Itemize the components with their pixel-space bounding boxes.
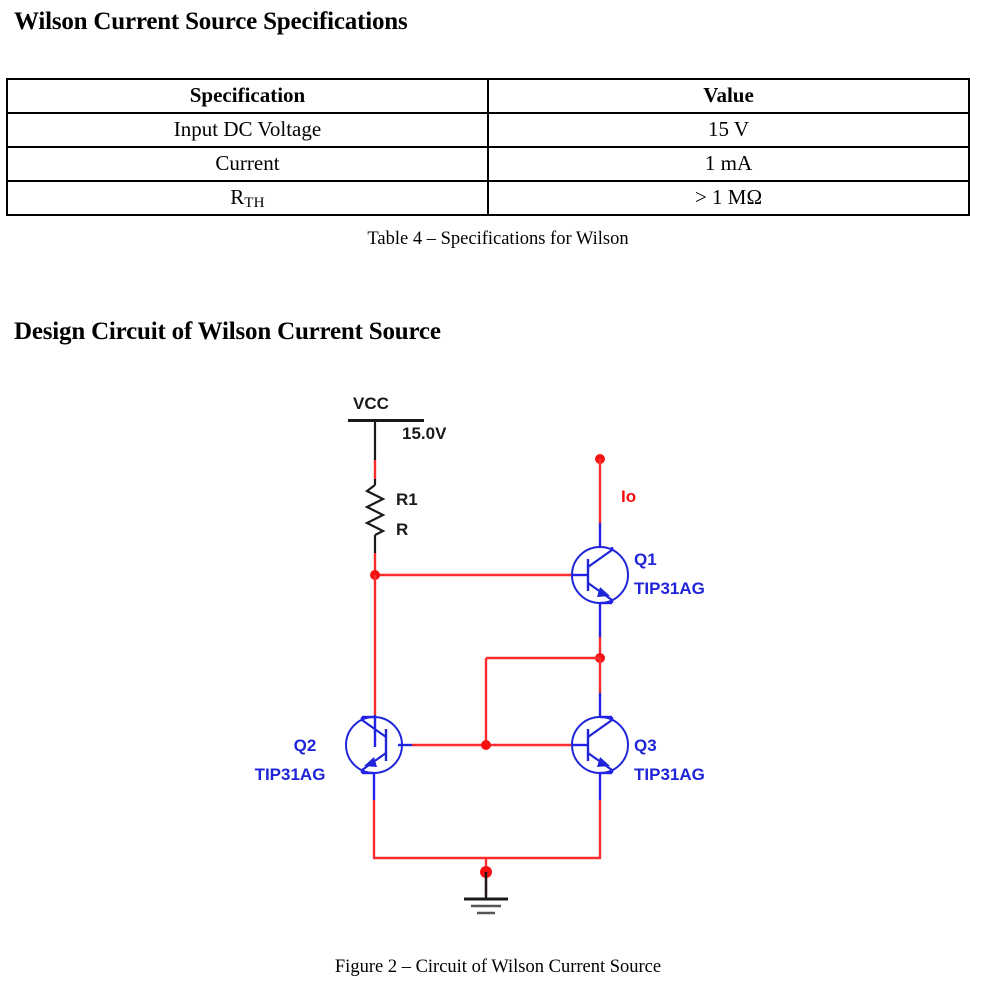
q3-ref-label: Q3 [634,736,657,755]
table-header-row: Specification Value [7,79,969,113]
cell-specification-subscript: TH [244,195,265,211]
q2-part-label: TIP31AG [255,765,326,784]
cell-specification-base: R [230,185,244,209]
table-row: Input DC Voltage 15 V [7,113,969,147]
vcc-voltage-label: 15.0V [402,424,447,443]
transistor-q1-symbol [572,547,628,603]
q2-ref-label: Q2 [294,736,317,755]
cell-value: 1 mA [488,147,969,181]
table-row: RTH > 1 MΩ [7,181,969,215]
cell-value: > 1 MΩ [488,181,969,215]
junction-node-base-rail [481,740,491,750]
table-row: Current 1 mA [7,147,969,181]
q3-part-label: TIP31AG [634,765,705,784]
cell-specification: Current [7,147,488,181]
column-header-specification: Specification [7,79,488,113]
resistor-ref-label: R1 [396,490,418,509]
page-title-design-circuit: Design Circuit of Wilson Current Source [14,318,441,346]
page-title-specifications: Wilson Current Source Specifications [14,8,408,36]
specifications-table: Specification Value Input DC Voltage 15 … [6,78,970,216]
cell-specification: Input DC Voltage [7,113,488,147]
cell-value: 15 V [488,113,969,147]
resistor-r1-symbol [367,485,383,553]
table-caption: Table 4 – Specifications for Wilson [0,229,996,250]
io-label: Io [621,487,636,506]
q1-ref-label: Q1 [634,550,657,569]
q1-part-label: TIP31AG [634,579,705,598]
resistor-value-label: R [396,520,408,539]
vcc-label: VCC [353,394,389,413]
cell-specification: RTH [7,181,488,215]
document-page: Wilson Current Source Specifications Spe… [0,0,996,1005]
circuit-schematic-figure: VCC 15.0V R1 R Io [0,375,996,935]
figure-caption: Figure 2 – Circuit of Wilson Current Sou… [0,957,996,978]
column-header-value: Value [488,79,969,113]
ground-symbol [464,872,508,913]
